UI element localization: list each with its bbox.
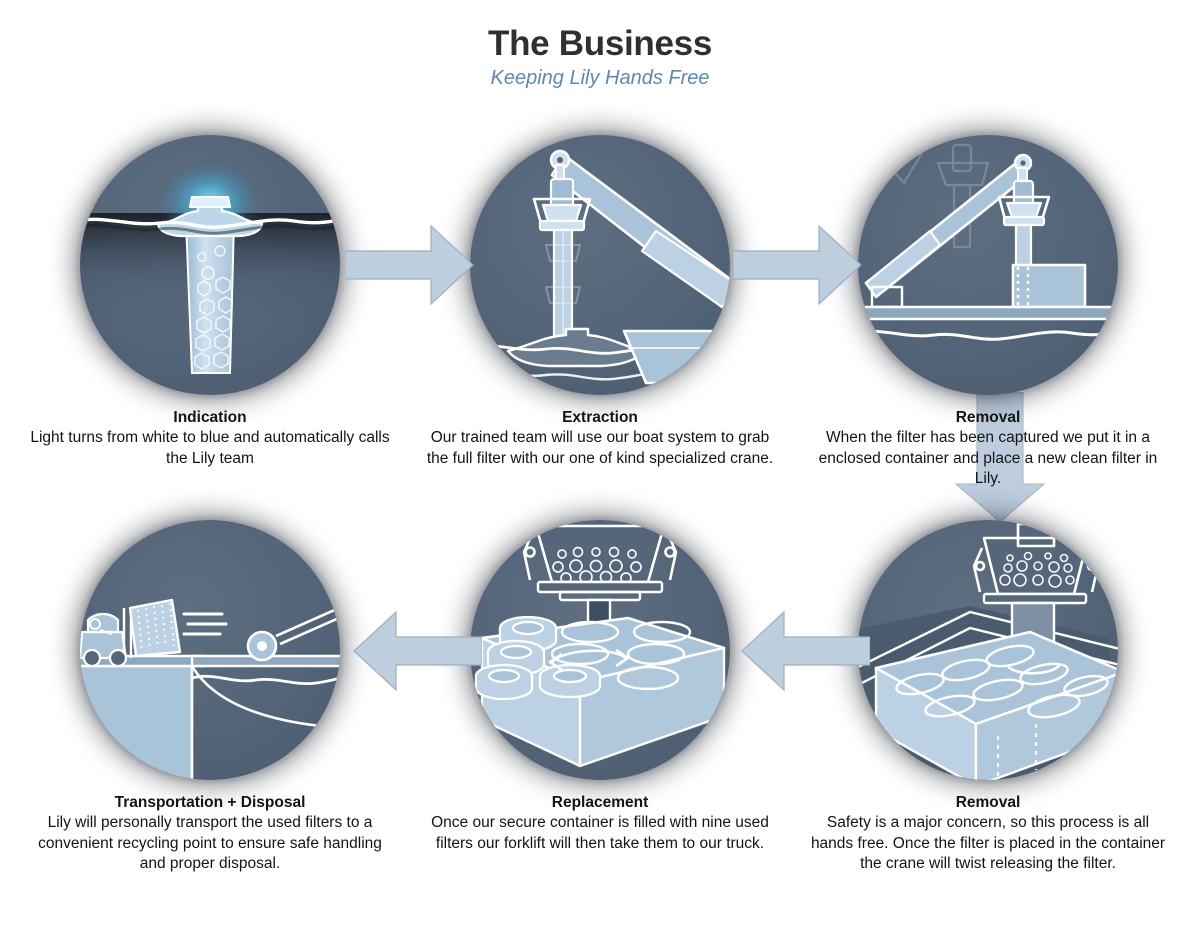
arrow-indication-to-extraction [345,222,475,308]
step-indication: Indication Light turns from white to blu… [30,135,390,469]
step-removal-top: Removal When the filter has been capture… [808,135,1168,490]
arrow-replacement-to-transportation [352,608,482,694]
step-title-indication: Indication [30,408,390,427]
page-header: The Business Keeping Lily Hands Free [0,26,1200,89]
step-title-transportation: Transportation + Disposal [30,793,390,812]
illustration-wrap-removal-bottom [858,520,1118,780]
arrow-removal-bottom-to-replacement [740,608,870,694]
step-removal-bottom: Removal Safety is a major concern, so th… [808,520,1168,875]
illustration-extraction [470,135,730,395]
step-desc-removal-bottom: Safety is a major concern, so this proce… [808,813,1168,874]
step-desc-extraction: Our trained team will use our boat syste… [420,428,780,469]
step-transportation-disposal: Transportation + Disposal Lily will pers… [30,520,390,875]
illustration-replacement [470,520,730,780]
step-desc-indication: Light turns from white to blue and autom… [30,428,390,469]
illustration-transportation-disposal [80,520,340,780]
step-title-removal-bottom: Removal [808,793,1168,812]
illustration-wrap-indication [80,135,340,395]
illustration-wrap-transportation [80,520,340,780]
step-desc-replacement: Once our secure container is filled with… [420,813,780,854]
illustration-indication [80,135,340,395]
step-desc-removal-top: When the filter has been captured we put… [808,428,1168,489]
illustration-removal-top [858,135,1118,395]
illustration-wrap-replacement [470,520,730,780]
illustration-wrap-removal-top [858,135,1118,395]
step-title-removal-top: Removal [808,408,1168,427]
step-desc-transportation: Lily will personally transport the used … [30,813,390,874]
arrow-extraction-to-removal-top [733,222,863,308]
illustration-wrap-extraction [470,135,730,395]
step-title-extraction: Extraction [420,408,780,427]
page-title: The Business [0,26,1200,63]
page-subtitle: Keeping Lily Hands Free [0,67,1200,89]
step-title-replacement: Replacement [420,793,780,812]
illustration-removal-bottom [858,520,1118,780]
